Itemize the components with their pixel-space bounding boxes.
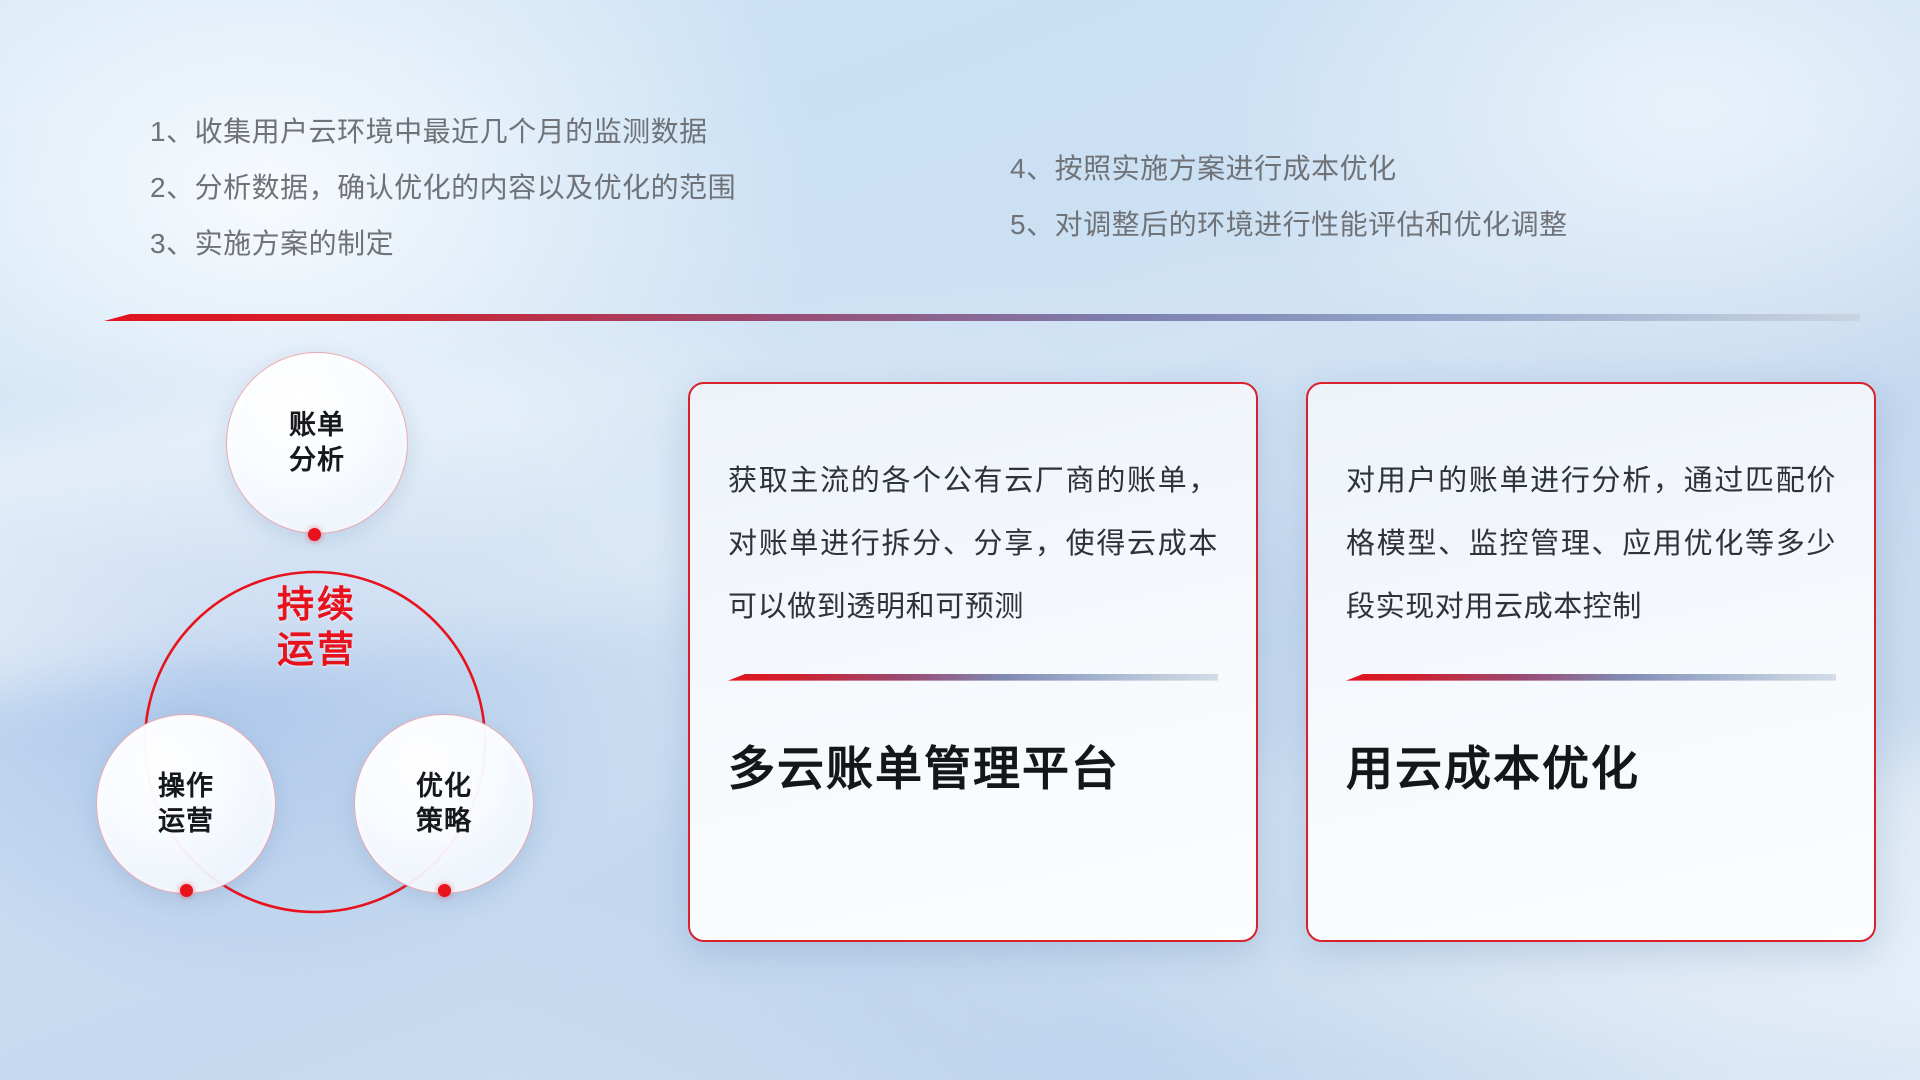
- venn-node-dot-right: [438, 884, 451, 897]
- venn-center-label: 持续 运营: [227, 582, 407, 672]
- venn-diagram: 账单分析 操作运营 优化策略 持续 运营: [96, 352, 656, 942]
- step-item-1: 1、收集用户云环境中最近几个月的监测数据: [150, 118, 736, 146]
- step-item-5: 5、对调整后的环境进行性能评估和优化调整: [1010, 211, 1568, 239]
- steps-left-column: 1、收集用户云环境中最近几个月的监测数据 2、分析数据，确认优化的内容以及优化的…: [150, 118, 736, 258]
- feature-card-multicloud-billing[interactable]: 获取主流的各个公有云厂商的账单，对账单进行拆分、分享，使得云成本可以做到透明和可…: [688, 382, 1258, 942]
- steps-right-column: 4、按照实施方案进行成本优化 5、对调整后的环境进行性能评估和优化调整: [1010, 155, 1568, 239]
- step-item-3: 3、实施方案的制定: [150, 230, 736, 258]
- venn-bubble-optimization-strategy[interactable]: 优化策略: [354, 714, 534, 894]
- venn-node-dot-top: [308, 528, 321, 541]
- card-title: 多云账单管理平台: [728, 743, 1218, 795]
- step-item-2: 2、分析数据，确认优化的内容以及优化的范围: [150, 174, 736, 202]
- venn-node-dot-left: [180, 884, 193, 897]
- feature-card-cloud-cost-optimization[interactable]: 对用户的账单进行分析，通过匹配价格模型、监控管理、应用优化等多少段实现对用云成本…: [1306, 382, 1876, 942]
- venn-center-line-2: 运营: [227, 627, 407, 672]
- card-description: 对用户的账单进行分析，通过匹配价格模型、监控管理、应用优化等多少段实现对用云成本…: [1346, 450, 1836, 640]
- card-divider: [728, 674, 1218, 681]
- venn-bubble-label: 优化策略: [416, 769, 472, 838]
- card-divider: [1346, 674, 1836, 681]
- section-divider: [104, 314, 1860, 321]
- card-title: 用云成本优化: [1346, 743, 1836, 795]
- step-item-4: 4、按照实施方案进行成本优化: [1010, 155, 1568, 183]
- venn-bubble-label: 账单分析: [289, 408, 345, 477]
- venn-bubble-bill-analysis[interactable]: 账单分析: [226, 352, 408, 534]
- venn-bubble-label: 操作运营: [158, 769, 214, 838]
- card-description: 获取主流的各个公有云厂商的账单，对账单进行拆分、分享，使得云成本可以做到透明和可…: [728, 450, 1218, 640]
- venn-bubble-operations[interactable]: 操作运营: [96, 714, 276, 894]
- venn-center-line-1: 持续: [227, 582, 407, 627]
- section-divider-bar: [104, 314, 1860, 321]
- slide-canvas: 1、收集用户云环境中最近几个月的监测数据 2、分析数据，确认优化的内容以及优化的…: [0, 0, 1920, 1080]
